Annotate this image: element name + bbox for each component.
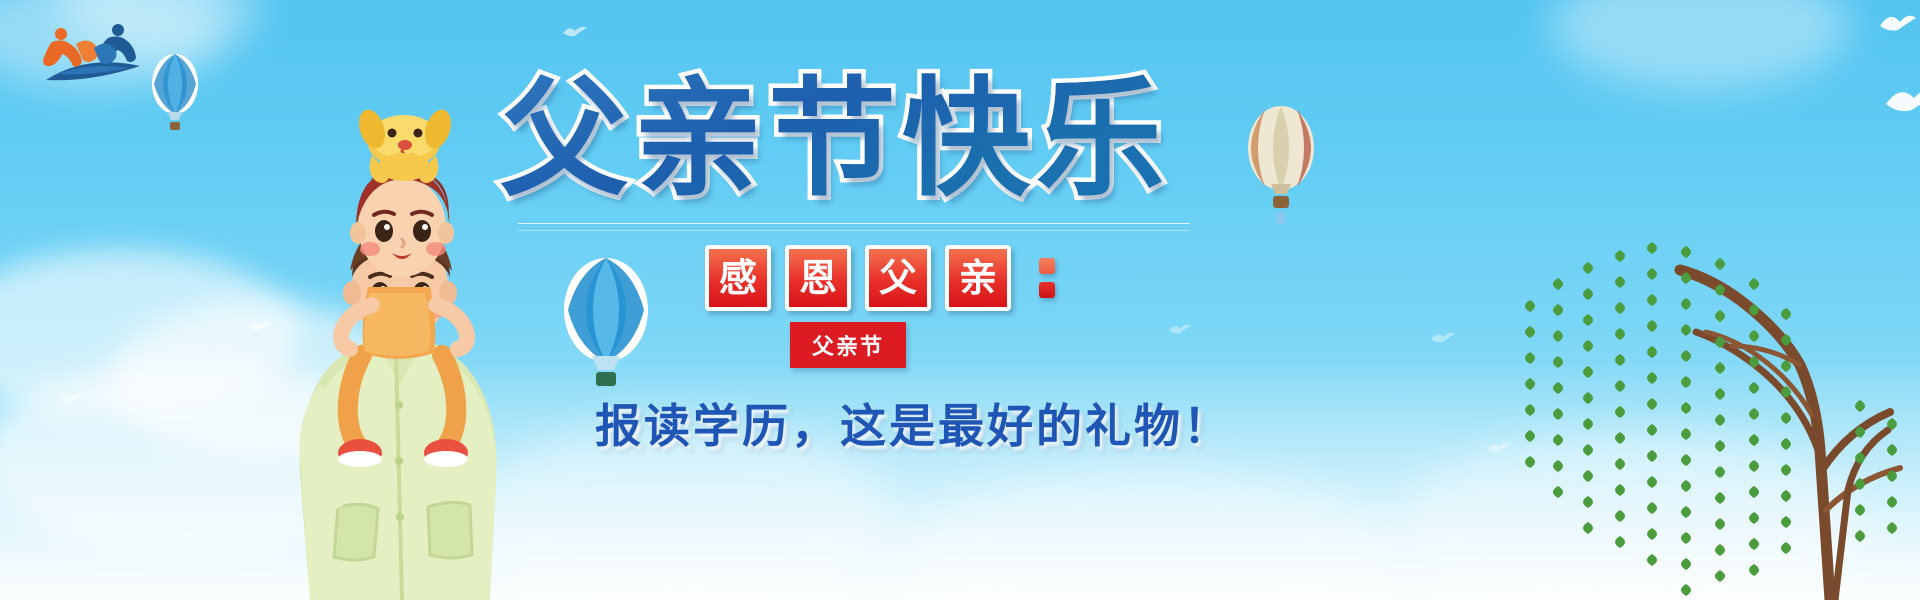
hot-air-balloon-icon	[148, 50, 202, 140]
cloud	[1550, 0, 1850, 90]
willow-tree-illustration	[1500, 150, 1920, 600]
swallow-bird-icon	[562, 24, 588, 38]
fathers-day-banner: 父亲节快乐 父亲节快乐 感 恩 父 亲 父亲节 报读学历，这是最好的礼物！	[0, 0, 1920, 600]
dove-bird-icon	[1878, 8, 1918, 34]
father-and-child-illustration	[250, 55, 540, 600]
dove-bird-icon	[1884, 82, 1920, 116]
slogan-tile: 亲	[945, 245, 1011, 311]
festival-tag: 父亲节	[790, 322, 906, 368]
brand-logo-icon[interactable]	[28, 14, 148, 86]
swallow-bird-icon	[1430, 330, 1456, 344]
semicolon-dot-lower	[1039, 282, 1055, 298]
banner-copy: 父亲节快乐 父亲节快乐 感 恩 父 亲 父亲节 报读学历，这是最好的礼物！	[500, 70, 1260, 550]
swallow-bird-icon	[60, 390, 84, 404]
divider-line	[518, 223, 1190, 224]
slogan-tile: 父	[865, 245, 931, 311]
slogan-tile: 感	[705, 245, 771, 311]
main-title-wrap: 父亲节快乐 父亲节快乐	[500, 70, 1200, 210]
slogan-tile: 恩	[785, 245, 851, 311]
semicolon-dot-upper	[1039, 258, 1055, 274]
slogan-tiles: 感 恩 父 亲	[705, 245, 1055, 311]
semicolon-mark	[1039, 258, 1055, 298]
main-title: 父亲节快乐	[500, 70, 1170, 210]
tagline: 报读学历，这是最好的礼物！	[595, 390, 1232, 456]
divider-line	[518, 230, 1190, 231]
